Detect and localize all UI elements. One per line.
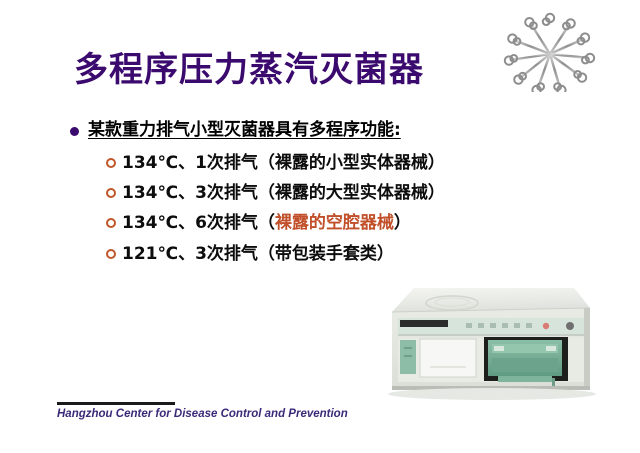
slide-root: 多程序压力蒸汽灭菌器 xyxy=(0,0,640,453)
main-bullet-row: 某款重力排气小型灭菌器具有多程序功能: xyxy=(70,118,540,144)
bullet-content: 某款重力排气小型灭菌器具有多程序功能: 134℃、1次排气（裸露的小型实体器械）… xyxy=(70,118,540,271)
list-item-suffix: ） xyxy=(394,213,411,233)
hollow-circle-bullet-icon xyxy=(106,158,116,168)
tabletop-autoclave-photo xyxy=(374,282,612,410)
footer-divider xyxy=(57,402,175,405)
sub-bullet-list: 134℃、1次排气（裸露的小型实体器械） 134℃、3次排气（裸露的大型实体器械… xyxy=(106,150,540,267)
list-item: 134℃、6次排气（裸露的空腔器械） xyxy=(106,210,540,236)
footer-organization: Hangzhou Center for Disease Control and … xyxy=(57,408,348,420)
hollow-circle-bullet-icon xyxy=(106,218,116,228)
list-item-label: 134℃、3次排气（裸露的大型实体器械） xyxy=(122,180,445,206)
surgical-instruments-starburst-icon xyxy=(498,8,602,92)
main-bullet-label: 某款重力排气小型灭菌器具有多程序功能: xyxy=(88,118,401,144)
list-item: 134℃、1次排气（裸露的小型实体器械） xyxy=(106,150,540,176)
hollow-circle-bullet-icon xyxy=(106,188,116,198)
page-title: 多程序压力蒸汽灭菌器 xyxy=(74,52,424,89)
list-item-label: 134℃、1次排气（裸露的小型实体器械） xyxy=(122,150,445,176)
list-item-label: 121℃、3次排气（带包装手套类） xyxy=(122,241,394,267)
bullet-dot-icon xyxy=(70,127,79,136)
hollow-circle-bullet-icon xyxy=(106,249,116,259)
list-item-label-highlighted: 134℃、6次排气（裸露的空腔器械） xyxy=(122,210,411,236)
list-item: 121℃、3次排气（带包装手套类） xyxy=(106,241,540,267)
list-item-prefix: 134℃、6次排气（ xyxy=(122,213,275,233)
list-item-highlight: 裸露的空腔器械 xyxy=(275,213,394,233)
list-item: 134℃、3次排气（裸露的大型实体器械） xyxy=(106,180,540,206)
